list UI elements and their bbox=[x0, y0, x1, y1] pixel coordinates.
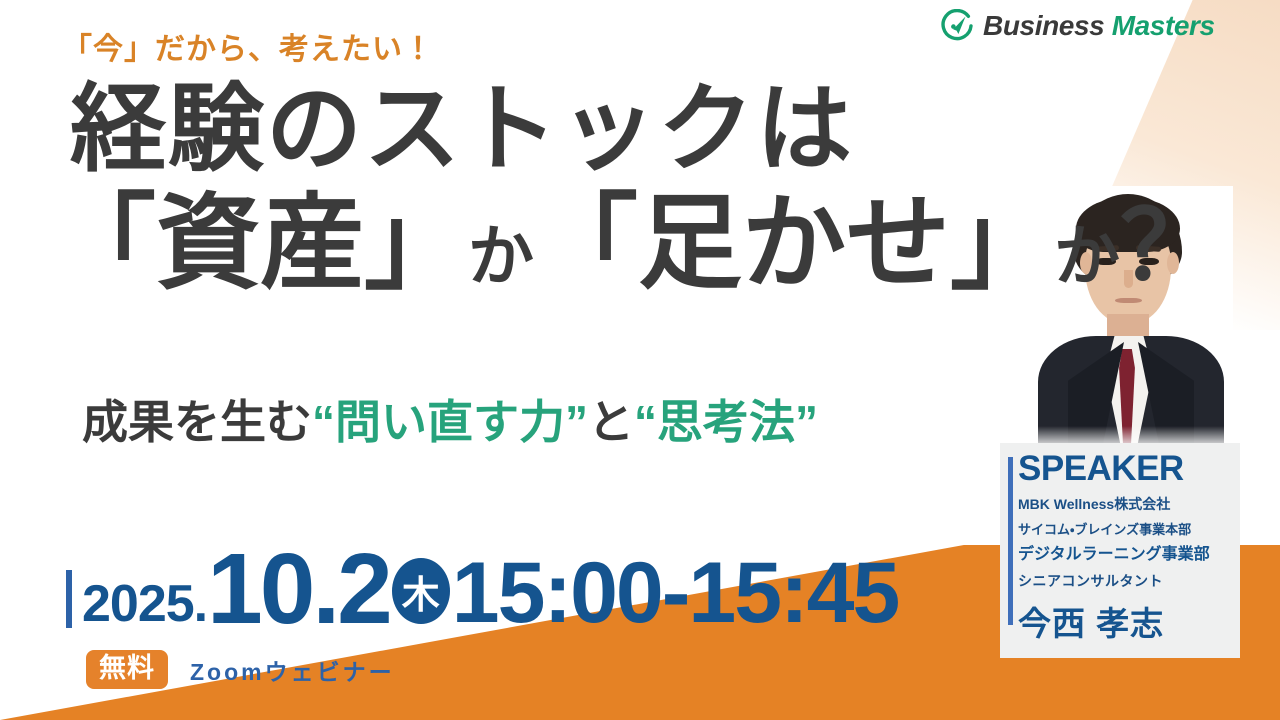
subtitle-accent-1: 問い直す力 bbox=[335, 396, 565, 448]
subtitle-accent-2: 思考法 bbox=[657, 396, 795, 448]
subtitle-quote-open-2: “ bbox=[634, 396, 657, 448]
speaker-section-title: SPEAKER bbox=[1018, 451, 1240, 488]
schedule-time: 15:00-15:45 bbox=[452, 556, 899, 632]
speaker-division: サイコム・ブレインズ事業本部 bbox=[1018, 519, 1240, 538]
webinar-banner: Business Masters 「今」だから、考えたい！ 経験のストックは 「… bbox=[0, 0, 1280, 720]
hero-subtitle: 成果を生む“問い直す力”と“思考法” bbox=[82, 386, 818, 452]
brand-logo-text: Business Masters bbox=[983, 12, 1215, 40]
headline-particle-1: か bbox=[468, 223, 534, 289]
brand-name-primary: Business bbox=[983, 10, 1104, 41]
subtitle-lead: 成果を生む bbox=[82, 396, 312, 448]
headline-particle-2: か bbox=[1054, 223, 1120, 289]
schedule-accent-bar bbox=[66, 570, 72, 628]
headline-asset-term: 「資産」 bbox=[52, 192, 468, 296]
schedule-year: 2025. bbox=[82, 578, 207, 630]
speaker-card: SPEAKER MBK Wellness株式会社 サイコム・ブレインズ事業本部 … bbox=[1000, 443, 1240, 658]
price-badge: 無料 bbox=[86, 650, 168, 689]
headline-shackle-term: 「足かせ」 bbox=[534, 192, 1054, 296]
subtitle-quote-close-1: ” bbox=[565, 396, 588, 448]
headline-line-2: 「資産」か「足かせ」か？ bbox=[52, 192, 1216, 296]
headline-question-mark: ？ bbox=[1120, 199, 1216, 295]
speaker-role: シニアコンサルタント bbox=[1018, 571, 1240, 591]
registration-info: 無料 Zoomウェビナー bbox=[86, 650, 395, 689]
subtitle-conjunction: と bbox=[588, 396, 634, 448]
schedule-date: 10.2 bbox=[207, 546, 390, 632]
platform-label: Zoomウェビナー bbox=[190, 653, 395, 687]
hero-headline: 経験のストックは 「資産」か「足かせ」か？ bbox=[70, 82, 854, 178]
brand-logo: Business Masters bbox=[940, 9, 1215, 43]
event-schedule: 2025. 10.2 木 15:00-15:45 bbox=[66, 546, 898, 632]
speaker-accent-bar bbox=[1008, 457, 1013, 625]
speaker-card-inner: SPEAKER MBK Wellness株式会社 サイコム・ブレインズ事業本部 … bbox=[1000, 451, 1240, 658]
speaker-name: 今西 孝志 bbox=[1018, 597, 1240, 645]
schedule-day-of-week-badge: 木 bbox=[392, 558, 450, 624]
speaker-department: デジタルラーニング事業部 bbox=[1018, 540, 1240, 564]
speaker-company: MBK Wellness株式会社 bbox=[1018, 494, 1240, 514]
brand-name-secondary: Masters bbox=[1112, 10, 1215, 41]
subtitle-quote-close-2: ” bbox=[795, 396, 818, 448]
hero-tagline: 「今」だから、考えたい！ bbox=[62, 24, 434, 68]
subtitle-quote-open-1: “ bbox=[312, 396, 335, 448]
compass-arrow-icon bbox=[940, 9, 974, 43]
headline-line-1: 経験のストックは bbox=[70, 82, 854, 178]
